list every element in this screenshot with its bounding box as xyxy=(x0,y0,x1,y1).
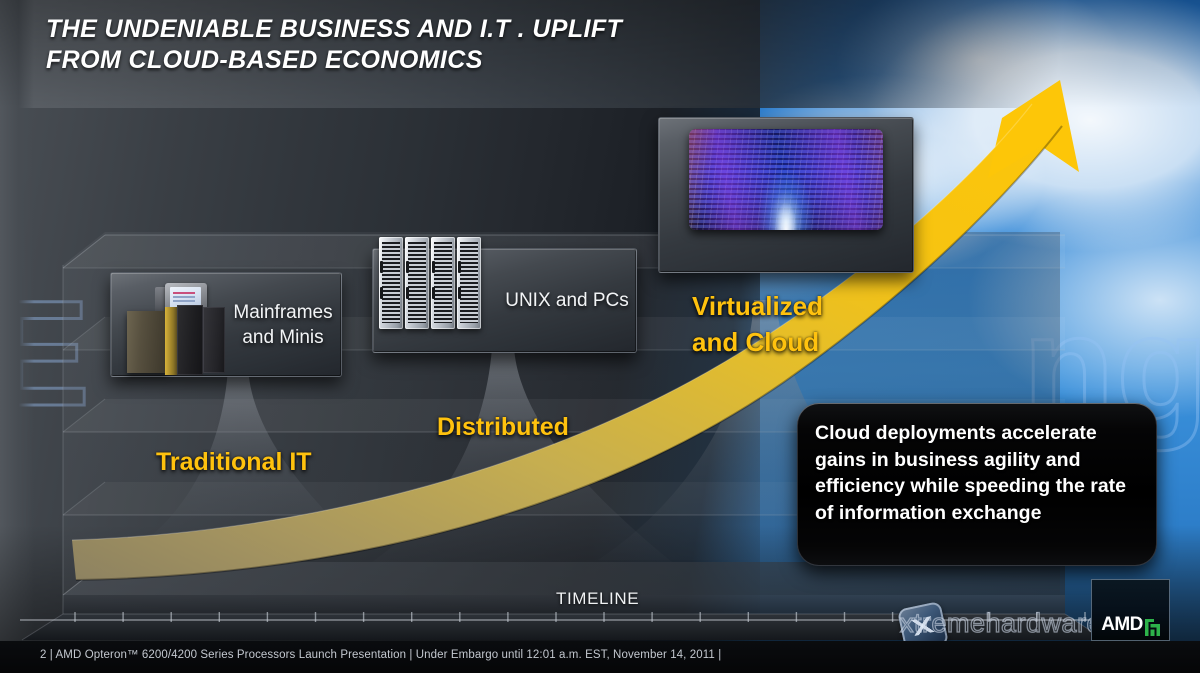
slide-title: THE UNDENIABLE BUSINESS AND I.T . UPLIFT… xyxy=(46,14,622,76)
footer-text: 2 | AMD Opteron™ 6200/4200 Series Proces… xyxy=(40,649,721,661)
panel-label-mainframes: Mainframes and Minis xyxy=(227,300,339,350)
stage-label-virtualized-cloud: Virtualized and Cloud xyxy=(692,288,823,360)
panel-unix-pcs[interactable]: UNIX and PCs xyxy=(372,248,637,353)
stage-label-distributed: Distributed xyxy=(437,412,569,442)
panel-mainframes[interactable]: Mainframes and Minis xyxy=(110,272,342,377)
panel-label-unix-pcs: UNIX and PCs xyxy=(501,288,633,313)
mainframe-icon xyxy=(119,281,231,377)
callout-text: Cloud deployments accelerate gains in bu… xyxy=(815,420,1141,526)
stage-label-traditional-it: Traditional IT xyxy=(156,447,312,477)
amd-arrow-icon xyxy=(1145,619,1160,636)
timeline-axis-label: TIMELINE xyxy=(556,589,639,609)
callout-box: Cloud deployments accelerate gains in bu… xyxy=(797,403,1157,566)
server-rack-icon xyxy=(379,237,481,329)
site-watermark: xtremehardware xyxy=(900,608,1102,639)
panel-clouds[interactable]: Clouds xyxy=(658,117,914,273)
amd-logo: AMD xyxy=(1091,579,1170,641)
presentation-slide: E ng xyxy=(0,0,1200,673)
datacenter-photo xyxy=(689,129,883,230)
amd-logo-text: AMD xyxy=(1101,614,1142,636)
